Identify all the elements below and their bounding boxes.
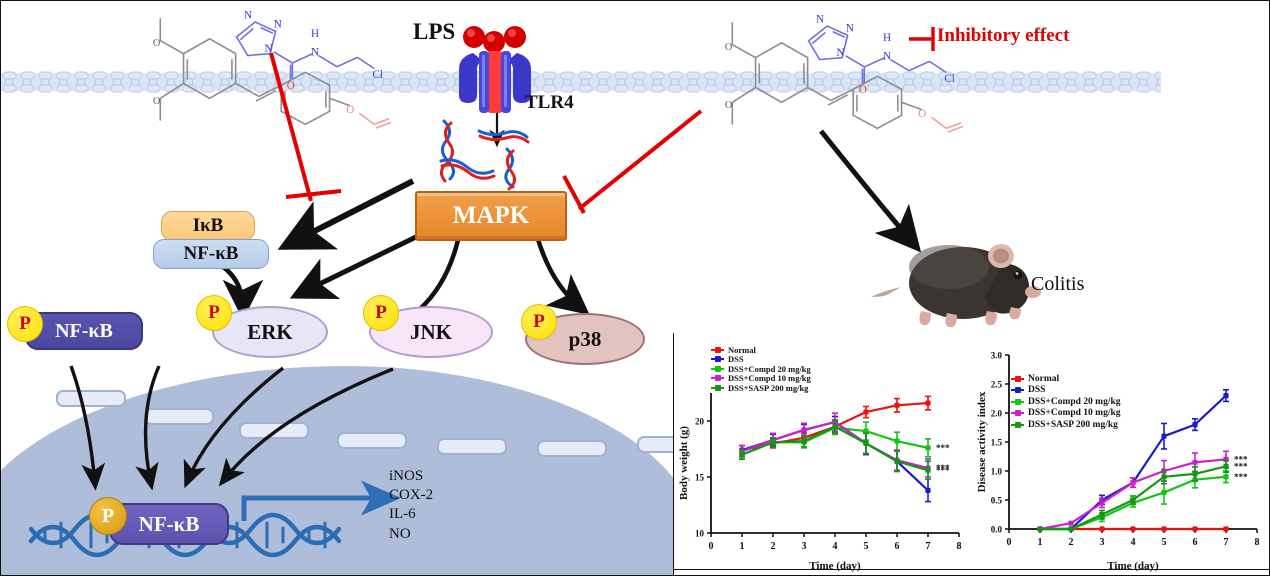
legend-label: DSS+Compd 20 mg/kg <box>728 364 811 374</box>
svg-text:8: 8 <box>957 541 962 552</box>
mapk-label: MAPK <box>453 202 529 230</box>
ikb-node[interactable]: IκB <box>161 211 255 241</box>
svg-text:20: 20 <box>695 417 705 427</box>
ikb-label: IκB <box>193 215 224 237</box>
arrow-to-ikb <box>291 181 413 243</box>
svg-text:2.0: 2.0 <box>991 409 1003 419</box>
jnk-label: JNK <box>410 320 452 345</box>
phospho-label: P <box>533 311 545 333</box>
legend-label: DSS <box>728 354 744 364</box>
svg-text:***: *** <box>1234 472 1248 482</box>
legend-item: DSS+Compd 20 mg/kg <box>711 364 811 373</box>
arrow-mapk-to-erk <box>301 236 418 293</box>
svg-text:5: 5 <box>864 541 869 552</box>
legend-marker-icon <box>1011 420 1024 429</box>
legend-label: DSS+Compd 10 mg/kg <box>728 373 811 383</box>
svg-text:4: 4 <box>833 541 838 552</box>
svg-text:8: 8 <box>1255 537 1260 548</box>
legend-item: DSS+Compd 10 mg/kg <box>1011 409 1121 418</box>
legend-marker-icon <box>711 383 724 392</box>
legend-label: DSS+Compd 20 mg/kg <box>1028 397 1121 407</box>
legend-item: DSS <box>711 355 811 364</box>
legend-marker-icon <box>1011 397 1024 406</box>
legend-item: DSS+Compd 10 mg/kg <box>711 374 811 383</box>
legend-label: Normal <box>1028 374 1059 384</box>
arrow-to-mouse <box>821 131 913 243</box>
figure-canvas: O O N N N O H N Cl <box>0 0 1270 576</box>
svg-text:O: O <box>153 96 160 107</box>
svg-text:O: O <box>153 38 160 49</box>
svg-text:7: 7 <box>926 541 931 552</box>
svg-text:1.5: 1.5 <box>991 438 1003 448</box>
svg-text:6: 6 <box>895 541 900 552</box>
svg-text:3: 3 <box>802 541 807 552</box>
svg-text:O: O <box>725 100 732 111</box>
svg-text:N: N <box>883 51 891 63</box>
chart-body-weight: 012345678101520Time (day)Body weight (g)… <box>673 341 973 576</box>
chart-dai-legend: NormalDSSDSS+Compd 20 mg/kgDSS+Compd 10 … <box>1011 374 1121 432</box>
svg-text:15: 15 <box>695 473 705 483</box>
legend-marker-icon <box>711 355 724 364</box>
nfkb-complex-node[interactable]: NF-κB <box>153 239 269 269</box>
legend-item: Normal <box>1011 374 1121 383</box>
gene-target-item: NO <box>389 525 433 544</box>
erk-label: ERK <box>247 320 293 345</box>
lps-bead-icon <box>463 26 526 53</box>
legend-item: DSS+SASP 200 mg/kg <box>1011 420 1121 429</box>
svg-text:1: 1 <box>1038 537 1043 548</box>
svg-text:Body weight (g): Body weight (g) <box>678 426 690 500</box>
phospho-icon: P <box>363 295 399 331</box>
legend-marker-icon <box>1011 374 1024 383</box>
svg-text:***: *** <box>936 443 950 453</box>
svg-text:***: *** <box>936 465 950 475</box>
svg-text:O: O <box>725 42 732 53</box>
phospho-icon: P <box>521 304 557 340</box>
legend-label: DSS+Compd 10 mg/kg <box>1028 408 1121 418</box>
chart-body-weight-legend: NormalDSSDSS+Compd 20 mg/kgDSS+Compd 10 … <box>711 345 811 393</box>
inhibitory-legend-icon <box>909 27 933 51</box>
svg-text:H: H <box>883 32 891 44</box>
svg-text:6: 6 <box>1193 537 1198 548</box>
legend-marker-icon <box>1011 409 1024 418</box>
inhibition-arrow-mapk <box>564 111 701 213</box>
nucleus-region <box>0 366 701 576</box>
phospho-label: P <box>208 302 220 324</box>
dna-helix-icon <box>441 121 528 189</box>
svg-text:3: 3 <box>1100 537 1105 548</box>
svg-text:H: H <box>311 28 319 40</box>
arrow-mapk-to-jnk <box>420 231 460 309</box>
svg-text:O: O <box>346 104 354 116</box>
svg-text:N: N <box>264 43 272 55</box>
nfkb-complex-label: NF-κB <box>184 243 239 265</box>
chart-panel-divider-bottom <box>673 569 1270 570</box>
svg-text:N: N <box>816 13 824 25</box>
legend-item: DSS+Compd 20 mg/kg <box>1011 397 1121 406</box>
gene-target-item: IL-6 <box>389 505 433 524</box>
phospho-icon: P <box>196 295 232 331</box>
svg-text:N: N <box>311 47 319 59</box>
phospho-label: P <box>102 505 114 528</box>
svg-text:Time (day): Time (day) <box>1107 560 1159 572</box>
svg-text:N: N <box>846 23 854 35</box>
svg-text:2.5: 2.5 <box>991 380 1003 390</box>
svg-text:5: 5 <box>1162 537 1167 548</box>
legend-marker-icon <box>711 345 724 354</box>
svg-text:N: N <box>274 19 282 31</box>
p38-label: p38 <box>569 327 602 352</box>
legend-item: DSS+SASP 200 mg/kg <box>711 383 811 392</box>
chart-disease-activity-index: 0123456780.00.51.01.52.02.53.0Time (day)… <box>963 341 1270 576</box>
svg-text:10: 10 <box>695 529 705 539</box>
svg-text:N: N <box>244 9 252 21</box>
membrane-bilayer-icon <box>1 71 1161 93</box>
legend-label: DSS+SASP 200 mg/kg <box>728 383 808 393</box>
phospho-icon: P <box>7 306 43 342</box>
gene-target-item: COX-2 <box>389 486 433 505</box>
svg-text:0: 0 <box>1007 537 1012 548</box>
phospho-icon: P <box>89 497 127 535</box>
legend-label: Normal <box>728 345 756 355</box>
colitis-label: Colitis <box>1031 273 1084 296</box>
legend-marker-icon <box>711 364 724 373</box>
svg-text:2: 2 <box>771 541 776 552</box>
arrow-mapk-to-p38 <box>537 236 581 308</box>
svg-text:Disease activity index: Disease activity index <box>976 391 988 492</box>
svg-text:1.0: 1.0 <box>991 467 1003 477</box>
svg-text:4: 4 <box>1131 537 1136 548</box>
svg-text:3.0: 3.0 <box>991 351 1003 361</box>
chart-panel-divider <box>673 333 674 576</box>
svg-text:0.0: 0.0 <box>991 525 1003 535</box>
nfkb-free-label: NF-κB <box>55 320 113 343</box>
svg-text:N: N <box>836 47 844 59</box>
nfkb-free-node[interactable]: NF-κB <box>25 312 143 350</box>
nfkb-nucleus-label: NF-κB <box>139 512 200 537</box>
svg-text:2: 2 <box>1069 537 1074 548</box>
svg-text:Time (day): Time (day) <box>809 560 861 572</box>
svg-text:0: 0 <box>709 541 714 552</box>
legend-label: DSS <box>1028 385 1045 395</box>
lps-label: LPS <box>413 19 455 45</box>
svg-text:0.5: 0.5 <box>991 496 1003 506</box>
inhibitory-effect-label: Inhibitory effect <box>937 25 1069 47</box>
legend-marker-icon <box>1011 386 1024 395</box>
gene-target-list: iNOS COX-2 IL-6 NO <box>389 467 433 544</box>
chemical-structure-icon: O O N N N O H N Cl <box>153 9 391 128</box>
phospho-label: P <box>375 302 387 324</box>
legend-item: DSS <box>1011 386 1121 395</box>
svg-text:***: *** <box>1234 461 1248 471</box>
gene-target-item: iNOS <box>389 467 433 486</box>
svg-text:1: 1 <box>740 541 745 552</box>
mouse-photo-icon <box>871 244 1041 327</box>
legend-marker-icon <box>711 374 724 383</box>
legend-label: DSS+SASP 200 mg/kg <box>1028 420 1118 430</box>
mapk-node[interactable]: MAPK <box>415 191 567 241</box>
legend-item: Normal <box>711 345 811 354</box>
nfkb-nucleus-node[interactable]: NF-κB <box>109 503 229 545</box>
svg-text:7: 7 <box>1224 537 1229 548</box>
phospho-label: P <box>19 313 31 335</box>
tlr4-label: TLR4 <box>525 92 574 114</box>
svg-text:O: O <box>918 108 926 120</box>
